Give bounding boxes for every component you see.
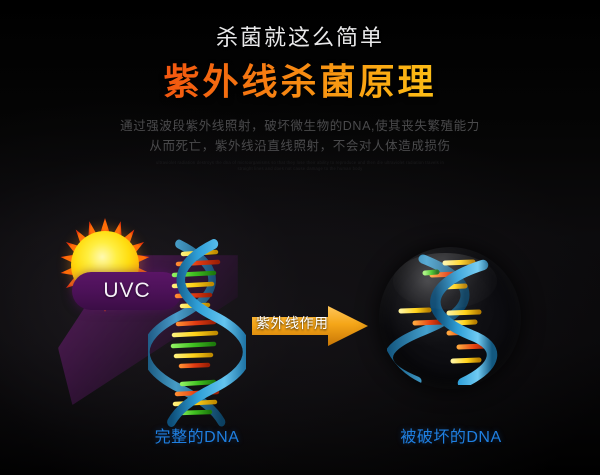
- glass-sphere: [379, 247, 521, 389]
- description-line-1: 通过强波段紫外线照射，破坏微生物的DNA,使其丧失繁殖能力: [0, 116, 600, 136]
- dna-helix-damaged-icon: [387, 251, 513, 385]
- arrow-label: 紫外线作用: [256, 313, 334, 333]
- dna-helix-intact-icon: [148, 238, 246, 428]
- promotional-banner: 杀菌就这么简单 紫外线杀菌原理 通过强波段紫外线照射，破坏微生物的DNA,使其丧…: [0, 0, 600, 475]
- page-title: 紫外线杀菌原理: [0, 60, 600, 104]
- caption-intact-dna: 完整的DNA: [132, 427, 262, 449]
- caption-damaged-dna: 被破坏的DNA: [385, 427, 517, 449]
- description-block: 通过强波段紫外线照射，破坏微生物的DNA,使其丧失繁殖能力 从而死亡，紫外线沿直…: [0, 116, 600, 156]
- page-subtitle: 杀菌就这么简单: [0, 24, 600, 52]
- header-block: 杀菌就这么简单 紫外线杀菌原理 通过强波段紫外线照射，破坏微生物的DNA,使其丧…: [0, 0, 600, 172]
- description-line-2: 从而死亡，紫外线沿直线照射，不会对人体造成损伤: [0, 136, 600, 156]
- decorative-latin-text: ultraviolet radiation destroys the dna o…: [150, 160, 450, 172]
